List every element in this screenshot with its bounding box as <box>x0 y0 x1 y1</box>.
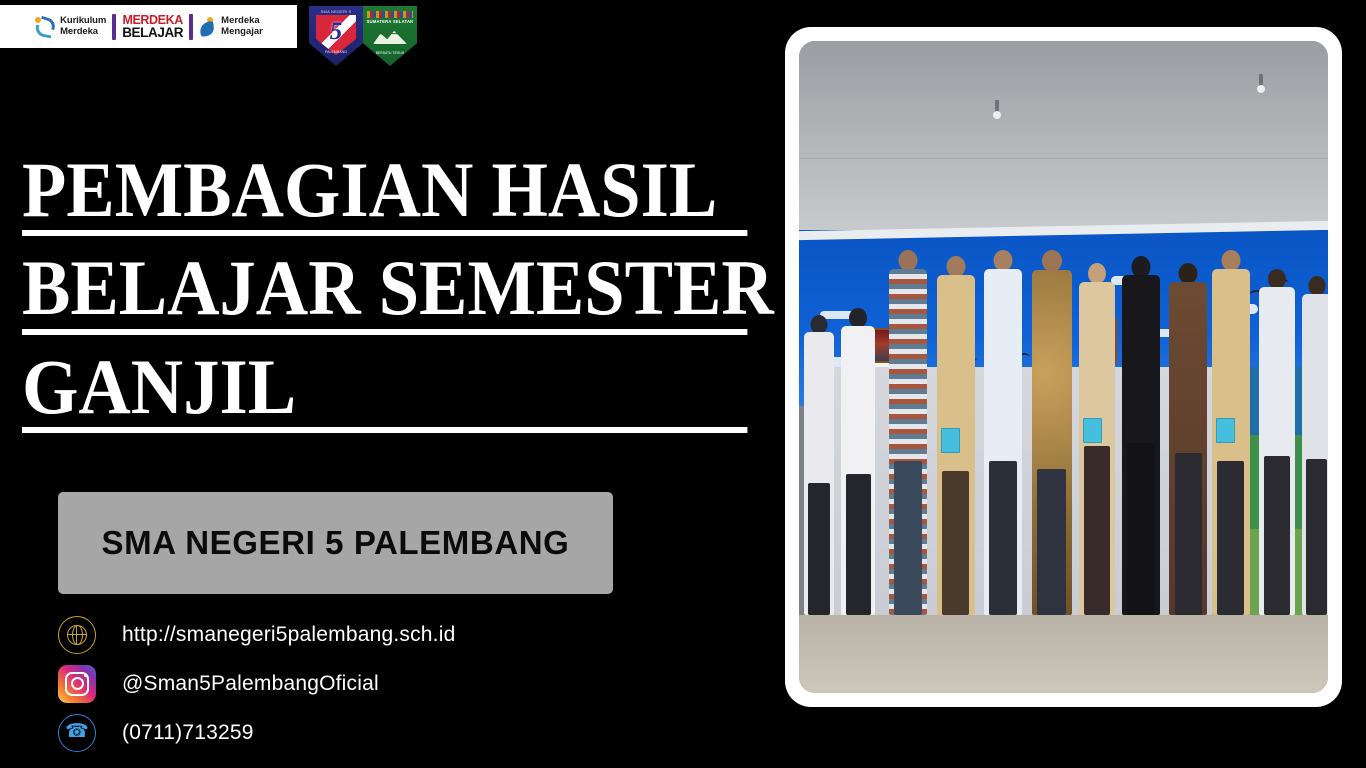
province-emblem-bottom-text: BERSATU TEGUH <box>363 51 417 55</box>
kurikulum-line1: Kurikulum <box>60 16 106 26</box>
contact-row-website[interactable]: http://smanegeri5palembang.sch.id <box>58 612 678 657</box>
page-title: PEMBAGIAN HASIL BELAJAR SEMESTER GANJIL <box>22 152 802 447</box>
mengajar-line1: Merdeka <box>221 16 263 26</box>
merdeka-belajar-logo: MERDEKA BELAJAR <box>116 14 189 40</box>
headline-line-3: GANJIL <box>22 349 747 433</box>
contact-list: http://smanegeri5palembang.sch.id @Sman5… <box>58 612 678 759</box>
website-value: http://smanegeri5palembang.sch.id <box>122 623 455 647</box>
person <box>889 250 927 615</box>
merdeka-mengajar-logo: Merdeka Mengajar <box>193 16 269 37</box>
certificate <box>1216 418 1235 443</box>
globe-icon <box>58 616 96 654</box>
mengajar-line2: Mengajar <box>221 27 263 37</box>
merdeka-mengajar-mark-icon <box>199 17 217 37</box>
school-name-label: SMA NEGERI 5 PALEMBANG <box>102 524 570 562</box>
kurikulum-merdeka-logo: Kurikulum Merdeka <box>28 16 112 38</box>
kurikulum-merdeka-mark-icon <box>34 16 56 38</box>
kurikulum-merdeka-label: Kurikulum Merdeka <box>60 16 106 37</box>
merdeka-belajar-line2: BELAJAR <box>122 26 183 40</box>
person <box>1212 250 1250 615</box>
instagram-icon <box>58 665 96 703</box>
merdeka-mengajar-label: Merdeka Mengajar <box>221 16 263 37</box>
contact-row-phone[interactable]: ☎ (0711)713259 <box>58 710 678 755</box>
program-logo-banner: Kurikulum Merdeka MERDEKA BELAJAR Merdek… <box>0 5 297 48</box>
photo-ceiling <box>799 41 1328 237</box>
headline-line-1: PEMBAGIAN HASIL <box>22 152 747 236</box>
certificate <box>1083 418 1102 443</box>
school-name-plate: SMA NEGERI 5 PALEMBANG <box>58 492 613 594</box>
school-emblem-icon: SMA NEGERI 5 5 PALEMBANG <box>309 6 363 66</box>
kurikulum-line2: Merdeka <box>60 27 106 37</box>
person <box>984 250 1022 615</box>
person <box>804 315 834 615</box>
province-emblem-text: SUMATERA SELATAN <box>363 19 417 24</box>
person <box>1079 263 1115 615</box>
person <box>1032 250 1072 615</box>
person <box>1122 256 1160 615</box>
phone-icon: ☎ <box>58 714 96 752</box>
poster-canvas: Kurikulum Merdeka MERDEKA BELAJAR Merdek… <box>0 0 1366 768</box>
contact-row-instagram[interactable]: @Sman5PalembangOficial <box>58 661 678 706</box>
province-emblem-icon: SUMATERA SELATAN BERSATU TEGUH <box>363 6 417 66</box>
person <box>841 308 875 614</box>
school-emblem-number: 5 <box>309 18 363 46</box>
headline-line-2: BELAJAR SEMESTER <box>22 250 747 334</box>
certificate <box>941 428 960 453</box>
school-emblem-bottom-text: PALEMBANG <box>309 50 363 54</box>
person <box>937 256 975 615</box>
person <box>1302 276 1328 615</box>
school-emblem-top-text: SMA NEGERI 5 <box>309 9 363 14</box>
person <box>1169 263 1207 615</box>
photo-card <box>785 27 1342 707</box>
person <box>1259 269 1295 615</box>
instagram-value: @Sman5PalembangOficial <box>122 672 379 696</box>
phone-value: (0711)713259 <box>122 721 254 745</box>
event-photo <box>799 41 1328 693</box>
photo-floor <box>799 615 1328 693</box>
